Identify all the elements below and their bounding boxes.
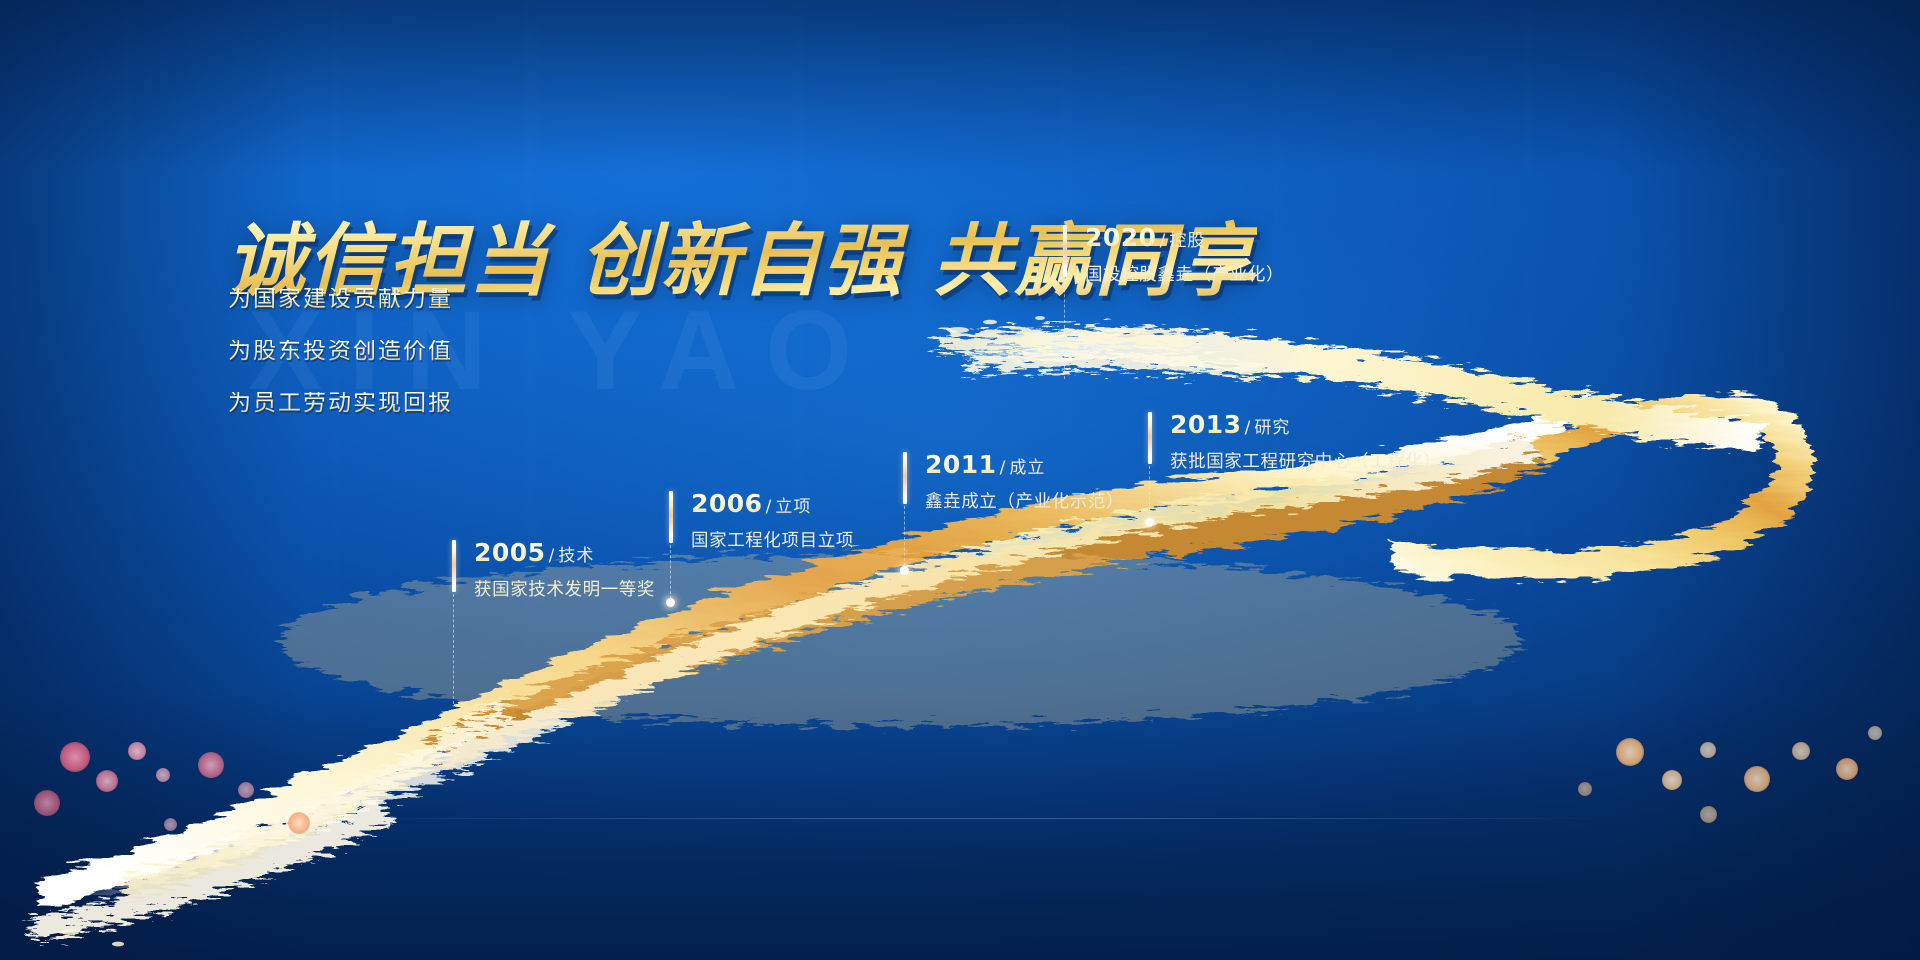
- milestone-point: [666, 598, 675, 607]
- milestone-description: 国家工程化项目立项: [691, 527, 854, 552]
- milestone-separator: /: [766, 497, 773, 517]
- milestone-leader-line: [453, 594, 454, 704]
- milestone-accent-bar: [1063, 225, 1067, 277]
- hero-subline: 为股东投资创造价值: [228, 340, 453, 363]
- milestone-accent-bar: [452, 540, 456, 592]
- milestone-text-group: 2013/研究 获批国家工程研究中心（工程化）: [1170, 410, 1442, 473]
- milestone-heading: 2020/控股: [1085, 223, 1284, 252]
- milestone-leader-line: [1064, 279, 1065, 379]
- milestone-separator: /: [549, 546, 556, 566]
- milestone-separator: /: [1160, 231, 1167, 251]
- milestone-accent-bar: [1148, 412, 1152, 464]
- milestone-description: 国投控股鑫垚（产业化）: [1085, 261, 1284, 286]
- milestone-text-group: 2005/技术 获国家技术发明一等奖: [474, 538, 655, 601]
- hero-subline: 为国家建设贡献力量: [228, 288, 453, 311]
- milestone-heading: 2005/技术: [474, 538, 655, 567]
- milestone-heading: 2013/研究: [1170, 410, 1442, 439]
- milestone-description: 鑫垚成立（产业化示范）: [925, 488, 1124, 513]
- milestone-description: 获国家技术发明一等奖: [474, 576, 655, 601]
- milestone-category: 成立: [1009, 458, 1045, 478]
- hero-subline-list: 为国家建设贡献力量 为股东投资创造价值 为员工劳动实现回报: [228, 288, 453, 444]
- milestone-separator: /: [1000, 458, 1007, 478]
- milestone-year: 2011: [925, 450, 997, 479]
- milestone-text-group: 2011/成立 鑫垚成立（产业化示范）: [925, 450, 1124, 513]
- milestone-text-group: 2020/控股 国投控股鑫垚（产业化）: [1085, 223, 1284, 286]
- milestone-accent-bar: [669, 491, 673, 543]
- milestone-point: [900, 566, 909, 575]
- milestone-leader-line: [670, 545, 671, 599]
- milestone-point: [1145, 518, 1154, 527]
- milestone-text-group: 2006/立项 国家工程化项目立项: [691, 489, 854, 552]
- milestone-category: 控股: [1169, 231, 1205, 251]
- milestone-year: 2013: [1170, 410, 1242, 439]
- milestone-description: 获批国家工程研究中心（工程化）: [1170, 448, 1442, 473]
- milestone-leader-line: [1149, 466, 1150, 520]
- horizon-divider-line: [0, 818, 1920, 819]
- milestone-heading: 2011/成立: [925, 450, 1124, 479]
- milestone-accent-bar: [903, 452, 907, 504]
- milestone-category: 立项: [775, 497, 811, 517]
- milestone-leader-line: [904, 506, 905, 566]
- milestone-year: 2020: [1085, 223, 1157, 252]
- milestone-separator: /: [1245, 418, 1252, 438]
- banner-canvas: XIN YAO: [0, 0, 1920, 960]
- milestone-category: 研究: [1254, 418, 1290, 438]
- milestone-category: 技术: [558, 546, 594, 566]
- milestone-heading: 2006/立项: [691, 489, 854, 518]
- hero-subline: 为员工劳动实现回报: [228, 392, 453, 415]
- milestone-year: 2005: [474, 538, 546, 567]
- milestone-year: 2006: [691, 489, 763, 518]
